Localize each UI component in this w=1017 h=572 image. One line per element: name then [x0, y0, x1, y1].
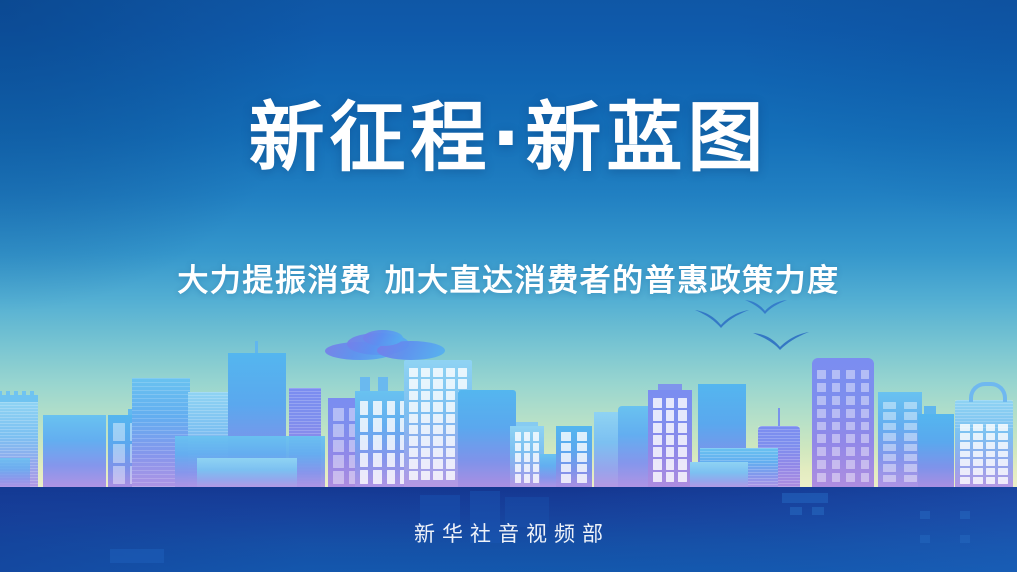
- building: [594, 412, 620, 488]
- window-grid: [561, 432, 587, 483]
- building: [955, 400, 1013, 488]
- building-roof-detail: [924, 406, 936, 414]
- building-roof-detail: [516, 422, 538, 426]
- page-title: 新征程·新蓝图: [0, 98, 1017, 178]
- building-arch-roof: [969, 382, 1007, 402]
- reflection-window: [812, 507, 824, 515]
- reflection-window: [782, 493, 828, 503]
- building-turret: [378, 377, 388, 391]
- building: [618, 406, 652, 488]
- building-antenna: [255, 341, 258, 353]
- city-skyline: [0, 0, 1017, 488]
- page-subtitle: 大力提振消费 加大直达消费者的普惠政策力度: [0, 263, 1017, 300]
- building: [0, 458, 30, 488]
- window-grid: [515, 432, 539, 483]
- building: [918, 414, 954, 488]
- building-roof-detail: [0, 391, 2, 395]
- building: [510, 426, 544, 488]
- building: [197, 458, 297, 488]
- building-roof-detail: [22, 391, 26, 395]
- building-roof-detail: [6, 391, 10, 395]
- building-roof-detail: [658, 384, 682, 390]
- poster-canvas: 新征程·新蓝图 大力提振消费 加大直达消费者的普惠政策力度 新华社音视频部: [0, 0, 1017, 572]
- window-grid: [653, 398, 687, 482]
- reflection-window: [790, 507, 802, 515]
- building: [690, 462, 748, 488]
- window-grid: [883, 402, 917, 482]
- window-grid: [960, 424, 1008, 484]
- building: [43, 415, 106, 488]
- window-grid: [360, 401, 408, 484]
- building-roof-detail: [30, 391, 34, 395]
- reflection-window: [110, 549, 164, 563]
- building-turret: [360, 377, 370, 391]
- building: [812, 358, 874, 488]
- building: [458, 390, 516, 488]
- window-grid: [817, 370, 869, 482]
- building-roof-detail: [14, 391, 18, 395]
- building: [556, 426, 592, 488]
- building-antenna: [778, 408, 780, 426]
- building-roof-detail: [0, 395, 38, 402]
- footer-credit: 新华社音视频部: [0, 518, 1017, 548]
- building: [878, 392, 922, 488]
- building: [648, 390, 692, 488]
